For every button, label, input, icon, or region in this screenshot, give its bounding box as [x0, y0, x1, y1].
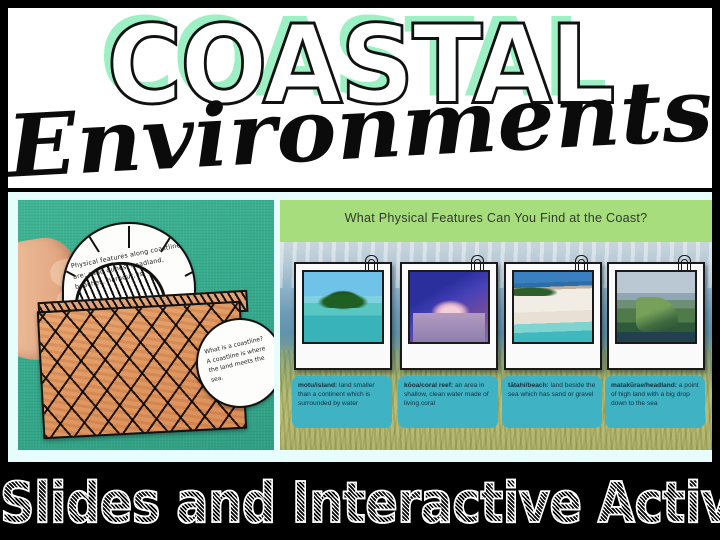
polaroid-card-3[interactable]: [504, 262, 602, 370]
footer-band: Slides and Interactive Activity: [0, 462, 720, 540]
bubble-card: What is a coastline? A coastline is wher…: [196, 318, 274, 408]
craft-photo: Physical features along coastline are: s…: [18, 200, 274, 450]
content-strip: Physical features along coastline are: s…: [8, 192, 712, 462]
caption-box-1[interactable]: motu/island: land smaller than a contine…: [292, 376, 392, 428]
caption-term-2: kōoa/coral reef:: [404, 382, 453, 389]
caption-box-4[interactable]: matakūrae/headland: a point of high land…: [605, 376, 705, 428]
headland-cliff-photo: [615, 270, 697, 344]
sandy-beach-photo: [512, 270, 594, 344]
polaroid-card-4[interactable]: [607, 262, 705, 370]
polaroid-card-2[interactable]: [400, 262, 498, 370]
poster-root: COASTAL Environments Physical features a…: [0, 0, 720, 540]
coral-reef-photo: [408, 270, 490, 344]
slide-header-title: What Physical Features Can You Find at t…: [280, 211, 712, 225]
bubble-card-text: What is a coastline? A coastline is wher…: [204, 333, 274, 385]
caption-term-4: matakūrae/headland:: [611, 382, 677, 389]
title-band: COASTAL Environments: [8, 8, 712, 188]
polaroid-card-1[interactable]: [294, 262, 392, 370]
slide-preview: What Physical Features Can You Find at t…: [280, 200, 712, 450]
caption-term-1: motu/island:: [298, 382, 337, 389]
caption-term-3: tātahi/beach:: [508, 382, 549, 389]
caption-box-3[interactable]: tātahi/beach: land beside the sea which …: [502, 376, 602, 428]
tropical-island-photo: [302, 270, 384, 344]
footer-title: Slides and Interactive Activity: [0, 470, 720, 537]
caption-box-2[interactable]: kōoa/coral reef: an area in shallow, cle…: [398, 376, 498, 428]
